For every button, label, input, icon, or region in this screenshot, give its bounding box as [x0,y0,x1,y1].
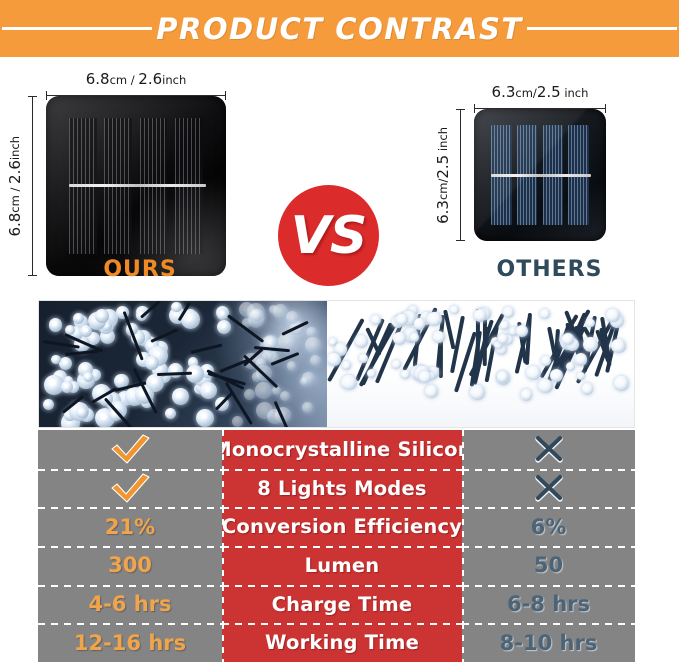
ours-value: 4-6 hrs [88,592,171,616]
panel-others: 6.3cm/2.5 inch 6.3cm/2.5 inch OTHERS [420,57,679,295]
product-photos [38,300,635,428]
header-rule-left [2,27,152,30]
ours-cell [38,430,222,469]
ours-width-cm-value: 6.8 [86,70,110,88]
vs-label: VS [291,210,367,262]
table-row: 300Lumen50 [38,546,635,585]
others-caption: OTHERS [420,257,679,282]
vs-badge: VS [278,185,379,286]
others-height-dimension: 6.3cm/2.5 inch [434,109,465,241]
ours-height-ruler [28,96,37,276]
ours-caption: OURS [0,257,280,282]
others-solar-busbar [491,174,591,177]
table-row: 4-6 hrsCharge Time6-8 hrs [38,585,635,624]
ours-height-inch-value: 2.6 [6,160,24,184]
others-height-label: 6.3cm/2.5 inch [434,127,452,224]
ours-height-cm-unit: cm / [8,184,22,213]
ours-cell: 300 [38,546,222,585]
feature-cell: Monocrystalline Silicon [222,430,462,469]
ours-width-inch-unit: inch [162,73,186,87]
others-width-cm-unit: cm/ [515,86,536,100]
feature-label: Lumen [305,554,380,577]
ours-height-inch-unit: inch [8,136,22,160]
others-width-inch-unit: inch [561,86,589,100]
feature-cell: Charge Time [222,585,462,624]
others-width-inch-value: 2.5 [537,83,561,101]
others-cell [462,430,635,469]
others-value: 6% [531,515,567,539]
table-row: 12-16 hrsWorking Time8-10 hrs [38,623,635,662]
ours-cell [38,469,222,508]
others-value: 8-10 hrs [500,631,598,655]
ours-width-cm-unit: cm / [110,73,139,87]
cross-icon [534,434,564,464]
ours-height-cm-value: 6.8 [6,212,24,236]
others-height-inch-unit: inch [436,127,450,155]
others-cell: 6-8 hrs [462,585,635,624]
header-rule-right [527,27,677,30]
feature-label: Monocrystalline Silicon [222,438,462,461]
feature-cell: Working Time [222,623,462,662]
others-width-label: 6.3cm/2.5 inch [492,83,589,101]
ours-height-dimension: 6.8cm / 2.6inch [6,96,37,276]
table-row: 21%Conversion Efficiency6% [38,507,635,546]
check-icon [109,473,151,503]
ours-led-string-lights-photo [39,301,327,427]
others-height-cm-value: 6.3 [434,200,452,224]
others-height-inch-value: 2.5 [434,154,452,178]
product-comparison-panels: 6.8cm / 2.6inch 6.8cm / 2.6inch OURS VS [0,57,679,295]
ours-value: 300 [108,553,152,577]
others-cell: 50 [462,546,635,585]
ours-value: 21% [105,515,155,539]
others-value: 50 [534,553,563,577]
feature-label: Working Time [265,631,419,654]
ours-cell: 21% [38,507,222,546]
ours-cell: 4-6 hrs [38,585,222,624]
table-row: Monocrystalline Silicon [38,430,635,469]
page-title: PRODUCT CONTRAST [156,12,522,46]
ours-width-inch-value: 2.6 [138,70,162,88]
feature-cell: 8 Lights Modes [222,469,462,508]
panel-ours: 6.8cm / 2.6inch 6.8cm / 2.6inch OURS [0,57,280,295]
feature-label: Charge Time [272,593,413,616]
table-row: 8 Lights Modes [38,469,635,508]
check-icon [109,434,151,464]
others-width-cm-value: 6.3 [492,83,516,101]
cross-icon [534,473,564,503]
others-cell: 8-10 hrs [462,623,635,662]
ours-cell: 12-16 hrs [38,623,222,662]
others-led-string-lights-photo [327,301,634,427]
others-solar-panel-image [474,109,606,241]
feature-label: 8 Lights Modes [257,477,426,500]
others-value: 6-8 hrs [507,592,590,616]
spec-comparison-table: Monocrystalline Silicon8 Lights Modes21%… [38,430,635,662]
ours-value: 12-16 hrs [74,631,186,655]
others-height-ruler [456,109,465,241]
others-cell: 6% [462,507,635,546]
feature-cell: Conversion Efficiency [222,507,462,546]
ours-height-label: 6.8cm / 2.6inch [6,136,24,237]
others-cell [462,469,635,508]
feature-label: Conversion Efficiency [222,515,462,538]
ours-width-label: 6.8cm / 2.6inch [86,70,187,88]
ours-solar-busbar [69,184,206,187]
others-height-cm-unit: cm/ [436,178,450,199]
ours-solar-panel-image [46,96,226,276]
header-banner: PRODUCT CONTRAST [0,0,679,57]
feature-cell: Lumen [222,546,462,585]
